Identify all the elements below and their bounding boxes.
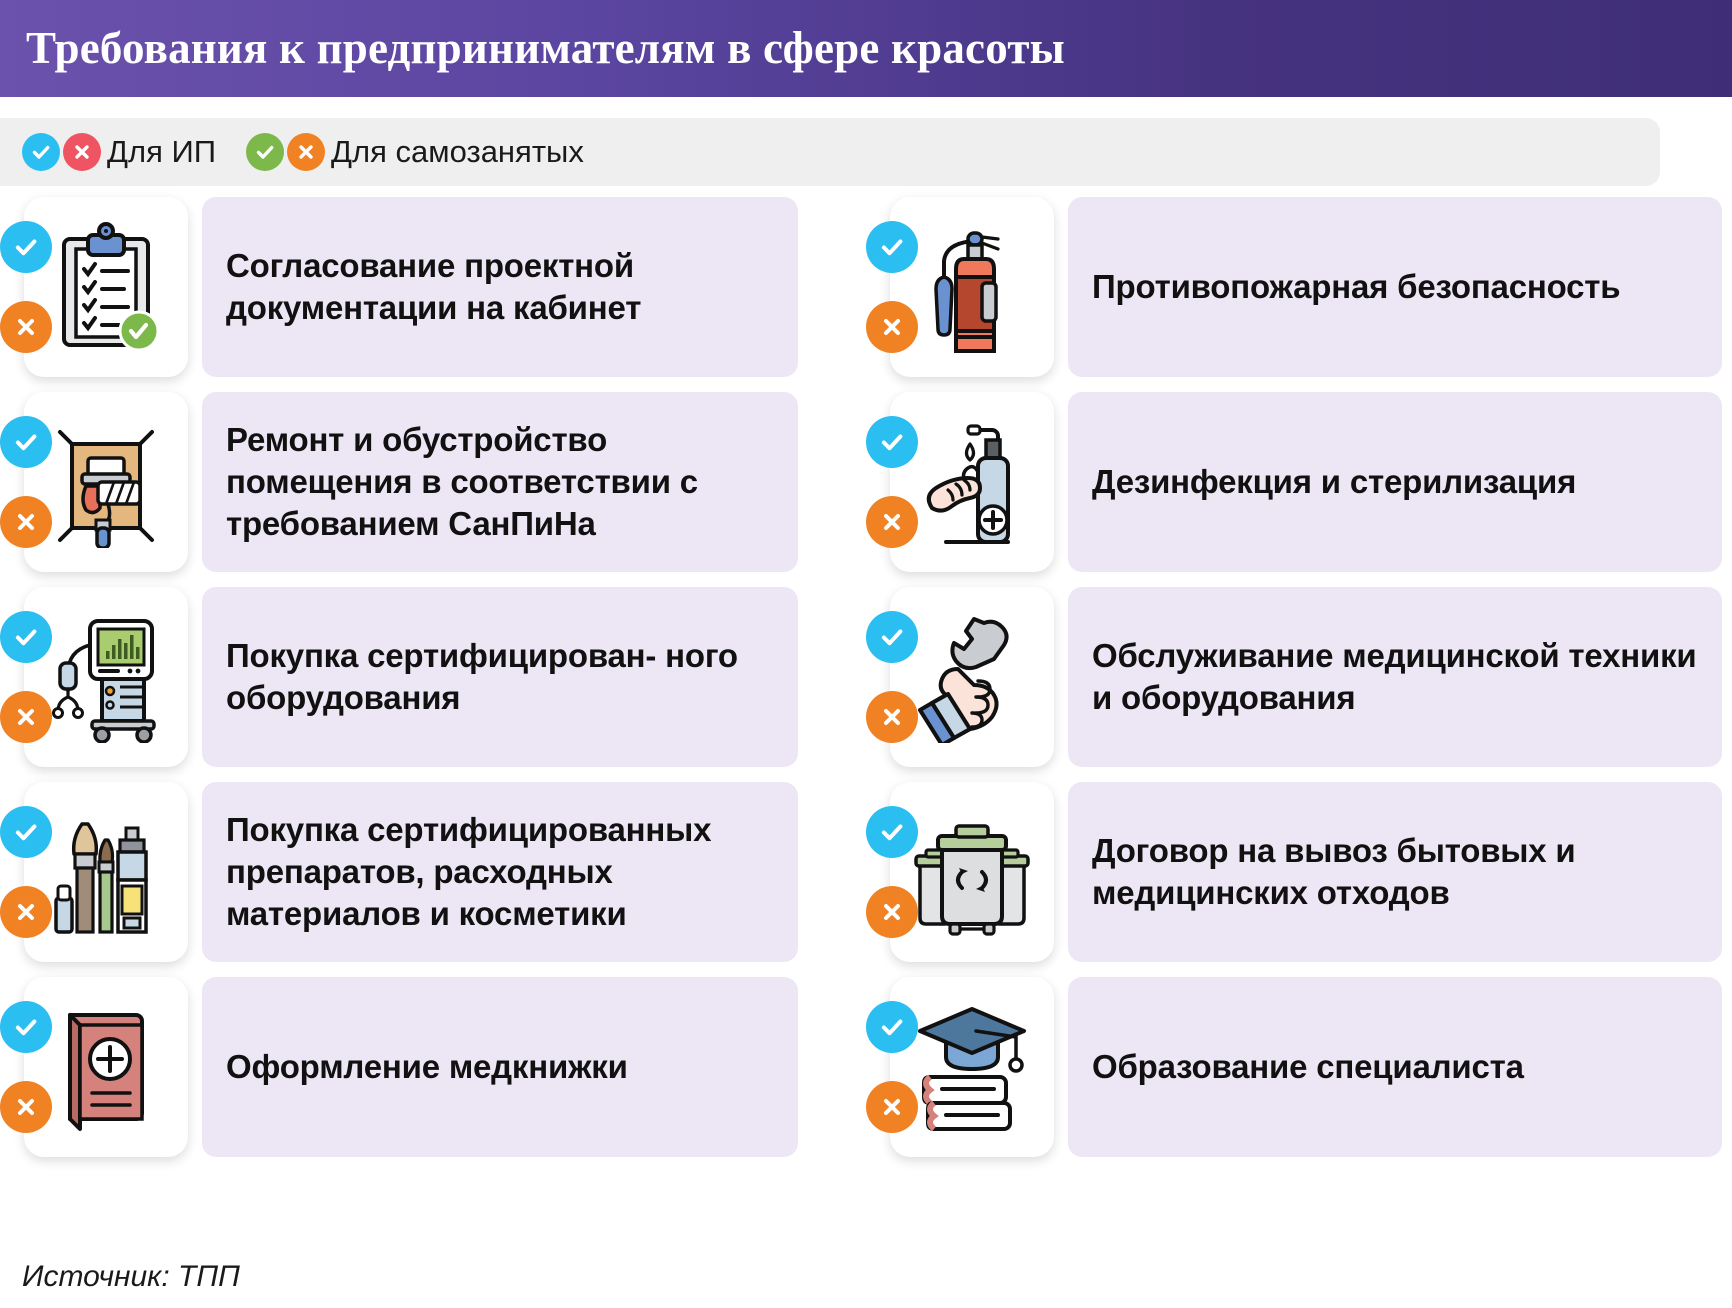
requirement-text-panel: Покупка сертифицированных препаратов, ра… bbox=[202, 782, 798, 962]
requirement-icon-tile bbox=[890, 782, 1054, 962]
requirement-row: Покупка сертифицирован- ного оборудовани… bbox=[24, 587, 866, 767]
requirement-label: Дезинфекция и стерилизация bbox=[1092, 461, 1576, 503]
paint-roller-wall-icon bbox=[46, 416, 166, 548]
graduation-cap-books-icon bbox=[912, 1001, 1032, 1133]
infographic-page: Требования к предпринимателям в сфере кр… bbox=[0, 0, 1732, 1308]
requirement-row: Оформление медкнижки bbox=[24, 977, 866, 1157]
requirement-icon-tile bbox=[24, 782, 188, 962]
requirement-label: Образование специалиста bbox=[1092, 1046, 1524, 1088]
requirement-label: Ремонт и обустройство помещения в соотве… bbox=[226, 419, 776, 546]
requirement-row: Противопожарная безопасность bbox=[890, 197, 1732, 377]
x-circle-icon bbox=[63, 133, 101, 171]
legend-badges-ip bbox=[22, 133, 101, 171]
requirement-label: Согласование проектной документации на к… bbox=[226, 245, 776, 329]
requirement-label: Покупка сертифицированных препаратов, ра… bbox=[226, 809, 776, 936]
requirements-grid: Согласование проектной документации на к… bbox=[0, 197, 1732, 1237]
clipboard-checklist-icon bbox=[46, 221, 166, 353]
requirement-row: Дезинфекция и стерилизация bbox=[890, 392, 1732, 572]
cosmetics-brushes-icon bbox=[46, 806, 166, 938]
waste-bins-recycle-icon bbox=[912, 806, 1032, 938]
medical-monitor-icon bbox=[46, 611, 166, 743]
requirements-column-right: Противопожарная безопасность bbox=[866, 197, 1732, 1237]
requirement-icon-tile bbox=[890, 977, 1054, 1157]
medical-book-icon bbox=[46, 1001, 166, 1133]
legend-group-ip: Для ИП bbox=[22, 133, 216, 171]
legend-badges-self-employed bbox=[246, 133, 325, 171]
requirement-row: Образование специалиста bbox=[890, 977, 1732, 1157]
page-title: Требования к предпринимателям в сфере кр… bbox=[0, 26, 1065, 71]
fire-extinguisher-icon bbox=[912, 221, 1032, 353]
requirement-text-panel: Договор на вывоз бытовых и медицинских о… bbox=[1068, 782, 1722, 962]
requirement-text-panel: Покупка сертифицирован- ного оборудовани… bbox=[202, 587, 798, 767]
requirement-icon-tile bbox=[24, 197, 188, 377]
requirement-icon-tile bbox=[890, 392, 1054, 572]
requirement-text-panel: Ремонт и обустройство помещения в соотве… bbox=[202, 392, 798, 572]
requirement-label: Договор на вывоз бытовых и медицинских о… bbox=[1092, 830, 1700, 914]
requirement-label: Покупка сертифицирован- ного оборудовани… bbox=[226, 635, 776, 719]
requirement-icon-tile bbox=[890, 587, 1054, 767]
requirement-row: Обслуживание медицинской техники и обору… bbox=[890, 587, 1732, 767]
requirement-text-panel: Согласование проектной документации на к… bbox=[202, 197, 798, 377]
requirement-label: Противопожарная безопасность bbox=[1092, 266, 1620, 308]
header-bar: Требования к предпринимателям в сфере кр… bbox=[0, 0, 1732, 97]
requirement-row: Покупка сертифицированных препаратов, ра… bbox=[24, 782, 866, 962]
requirement-label: Обслуживание медицинской техники и обору… bbox=[1092, 635, 1700, 719]
source-note: Источник: ТПП bbox=[22, 1260, 240, 1294]
requirement-text-panel: Образование специалиста bbox=[1068, 977, 1722, 1157]
requirement-row: Договор на вывоз бытовых и медицинских о… bbox=[890, 782, 1732, 962]
legend-group-self-employed: Для самозанятых bbox=[246, 133, 584, 171]
requirement-text-panel: Противопожарная безопасность bbox=[1068, 197, 1722, 377]
requirements-column-left: Согласование проектной документации на к… bbox=[0, 197, 866, 1237]
requirement-text-panel: Оформление медкнижки bbox=[202, 977, 798, 1157]
check-circle-icon bbox=[22, 133, 60, 171]
legend: Для ИП Для самозанятых bbox=[0, 118, 1660, 186]
requirement-icon-tile bbox=[24, 977, 188, 1157]
legend-label-ip: Для ИП bbox=[107, 134, 216, 170]
requirement-icon-tile bbox=[24, 392, 188, 572]
requirement-row: Согласование проектной документации на к… bbox=[24, 197, 866, 377]
requirement-text-panel: Дезинфекция и стерилизация bbox=[1068, 392, 1722, 572]
wrench-hand-icon bbox=[912, 611, 1032, 743]
requirement-text-panel: Обслуживание медицинской техники и обору… bbox=[1068, 587, 1722, 767]
requirement-row: Ремонт и обустройство помещения в соотве… bbox=[24, 392, 866, 572]
requirement-icon-tile bbox=[890, 197, 1054, 377]
x-circle-icon bbox=[287, 133, 325, 171]
hand-sanitizer-icon bbox=[912, 416, 1032, 548]
requirement-icon-tile bbox=[24, 587, 188, 767]
requirement-label: Оформление медкнижки bbox=[226, 1046, 628, 1088]
legend-label-self-employed: Для самозанятых bbox=[331, 134, 584, 170]
check-circle-icon bbox=[246, 133, 284, 171]
